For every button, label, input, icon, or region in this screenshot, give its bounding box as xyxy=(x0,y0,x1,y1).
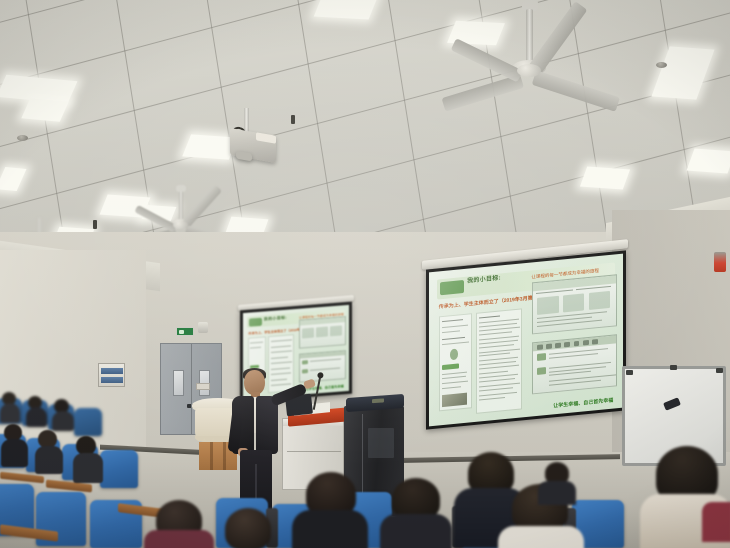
chat-avatar xyxy=(537,367,546,375)
audience-person xyxy=(152,500,214,548)
audience-person xyxy=(382,478,450,548)
sprinkler-head xyxy=(93,220,97,229)
ceiling-projector xyxy=(228,108,308,170)
ceiling-light-panel xyxy=(314,0,379,19)
audience-person xyxy=(54,399,76,429)
slide-title-tag xyxy=(440,280,463,296)
slide-seal-icon xyxy=(450,349,458,360)
door-window xyxy=(173,370,184,396)
chat-toolbar-icon xyxy=(564,342,570,347)
slide-title-tag xyxy=(249,318,262,327)
electrical-panel xyxy=(98,363,125,387)
audience-person xyxy=(28,396,50,426)
ceiling-light-panel xyxy=(687,149,730,174)
audience-person xyxy=(296,472,364,548)
wall-switch-plate[interactable] xyxy=(196,383,210,390)
slide-footer-text: 让学生幸福、自己首先幸福 xyxy=(553,397,613,410)
slide-chat-screenshot xyxy=(532,334,617,395)
main-projection-screen: 我的小目标: 让课程的每一节都成为幸福的旅程 传承为上、学生主体而立了（2019… xyxy=(414,250,630,432)
chat-avatar xyxy=(302,360,307,364)
slide-surface: 我的小目标: 让课程的每一节都成为幸福的旅程 传承为上、学生主体而立了（2019… xyxy=(429,254,623,427)
slide-app-screenshot-top xyxy=(532,274,617,335)
audience-person xyxy=(4,424,32,464)
slide-app-screenshot-top xyxy=(299,316,346,349)
slide-green-label xyxy=(442,364,459,370)
audience-person xyxy=(76,436,106,478)
audience-person xyxy=(2,392,24,422)
ceiling-light-panel xyxy=(580,166,630,189)
chat-toolbar-icon xyxy=(537,344,543,349)
slide-title-text: 我的小目标: xyxy=(264,316,287,322)
audience-person xyxy=(640,446,730,548)
screen-frame: 我的小目标: 让课程的每一节都成为幸福的旅程 传承为上、学生主体而立了（2019… xyxy=(426,250,626,429)
slide-title-text: 我的小目标: xyxy=(467,276,501,285)
chat-toolbar-icon xyxy=(555,343,561,348)
wall-sensor-icon xyxy=(198,322,208,333)
presenter-pointing-hand xyxy=(303,378,316,389)
chat-toolbar-icon xyxy=(583,340,589,345)
fan-blade xyxy=(532,70,620,111)
chat-avatar xyxy=(537,353,546,361)
audience-person xyxy=(540,462,574,502)
smoke-detector xyxy=(17,135,28,141)
chat-toolbar-icon xyxy=(546,344,552,349)
slide-doc-column-left xyxy=(439,313,472,412)
audience-person xyxy=(38,430,66,470)
lecture-hall-photo: 我的小目标: 让课程的每一节都成为幸福的旅程 传承为上、学生主体而立了（2019… xyxy=(0,0,730,548)
presenter-pointing-arm xyxy=(270,383,307,407)
slide-photo-thumb xyxy=(442,393,467,408)
audience-person xyxy=(220,508,280,548)
fire-alarm-icon xyxy=(714,252,726,272)
auditorium-seat[interactable] xyxy=(74,408,102,436)
exit-sign-icon xyxy=(176,327,194,336)
chat-toolbar-icon xyxy=(592,339,598,344)
chat-toolbar-icon xyxy=(574,341,580,346)
ceiling-fan xyxy=(476,0,676,130)
slide-doc-column-mid xyxy=(476,308,523,414)
